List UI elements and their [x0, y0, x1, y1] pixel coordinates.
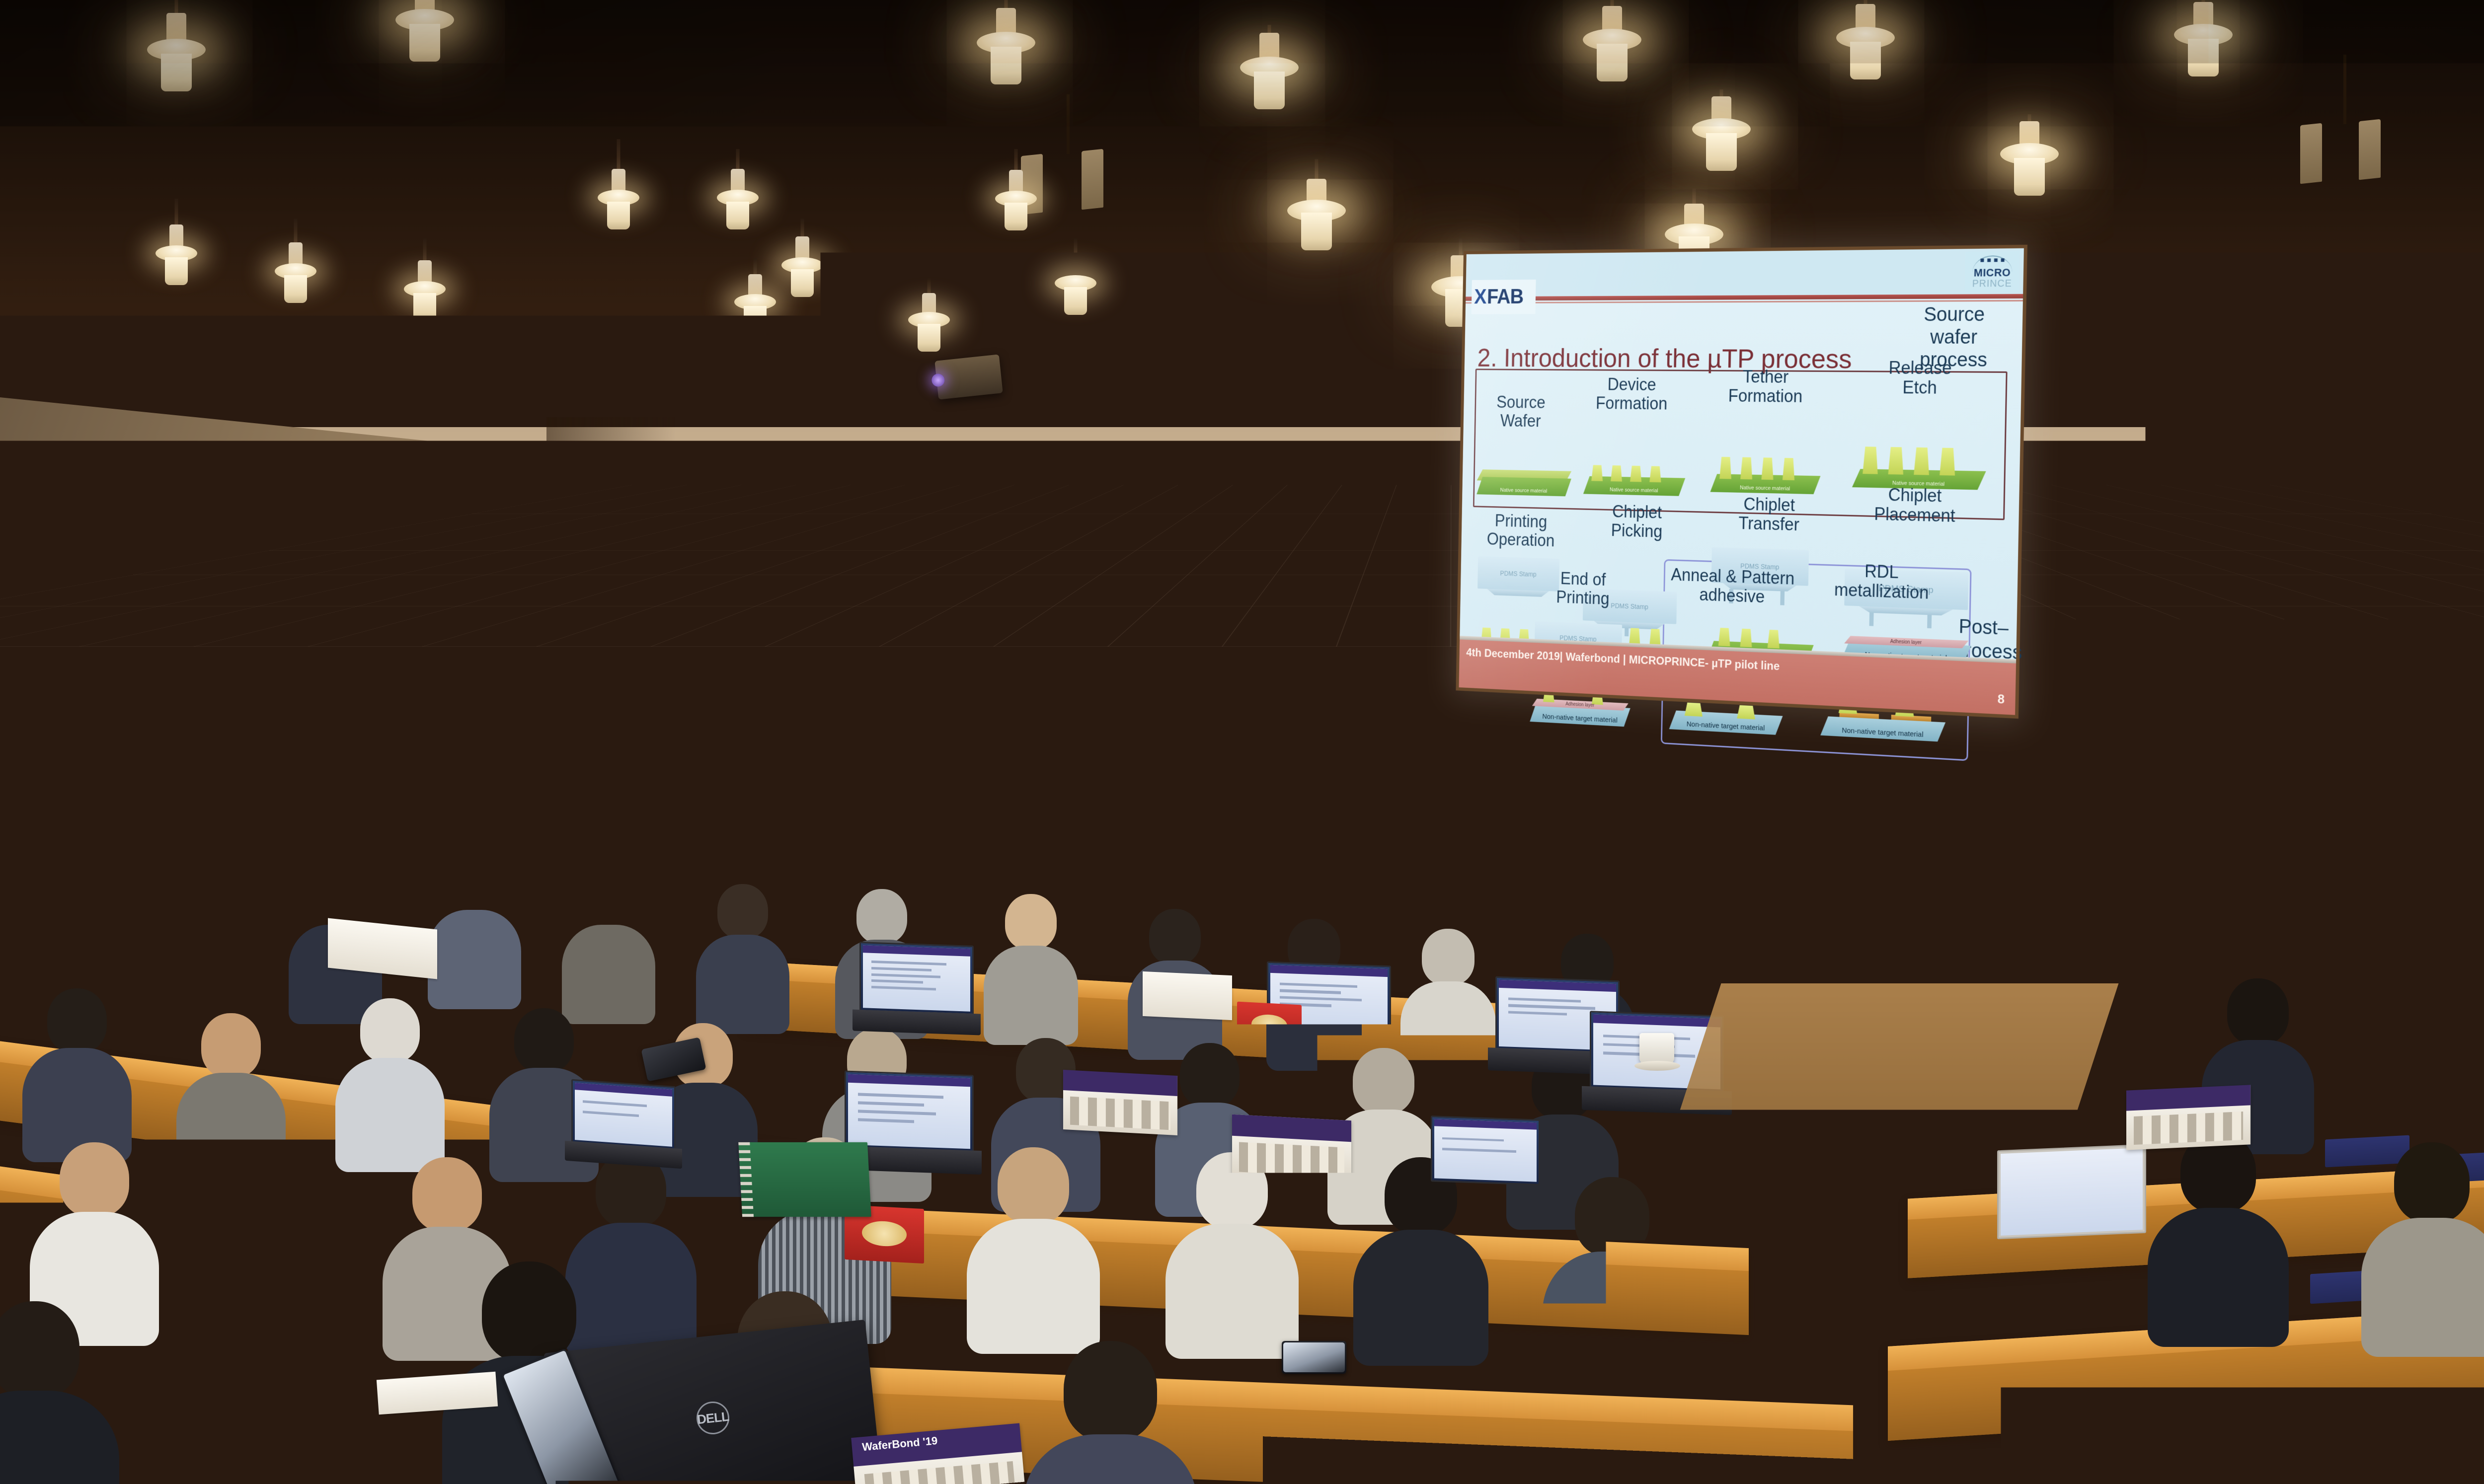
red-giveaway-box[interactable] — [1237, 1002, 1302, 1050]
pendant-lamp — [1833, 0, 1898, 114]
drinking-glass[interactable] — [1720, 897, 1730, 910]
audience-member-foreground — [189, 1336, 328, 1484]
microprince-logo: MICRO PRINCE — [1965, 251, 2020, 292]
dell-logo-icon: DELL — [695, 1400, 731, 1436]
step-label-source-wafer: Source Wafer — [1478, 393, 1564, 431]
audience-member — [437, 859, 512, 998]
xfab-x-mark: X — [1474, 287, 1485, 307]
pendant-lamp — [591, 139, 646, 238]
audience-member — [164, 864, 238, 1003]
presenter-shirt — [1061, 749, 1137, 853]
booth-speaker — [512, 650, 548, 678]
attendee-laptop[interactable] — [586, 801, 676, 878]
microprince-arc — [1972, 255, 2013, 273]
pendant-lamp — [904, 278, 954, 372]
projection-screen: X FAB MICRO PRINCE Source wafer process … — [1459, 248, 2024, 715]
xfab-logo: X FAB — [1472, 280, 1536, 314]
rack-led-red — [731, 781, 736, 784]
step-label-chiplet-picking: Chiplet Picking — [1590, 502, 1684, 542]
floor-aisle — [1637, 983, 2119, 1242]
slide-header-band — [1466, 248, 2024, 297]
drinking-glass[interactable] — [1337, 865, 1347, 878]
pendant-lamp — [397, 238, 452, 338]
ceiling-speakers-right — [2300, 55, 2390, 169]
banner-subtitle: CONFERENCE — [2437, 753, 2484, 769]
attendee-laptop[interactable] — [571, 1079, 676, 1169]
banner-title: WaferBond — [2437, 733, 2484, 755]
presenter-name-badge — [1096, 769, 1116, 779]
pendant-lamp — [1997, 114, 2062, 228]
pendant-lamp — [144, 0, 209, 124]
audience-member — [348, 998, 432, 1157]
box-seal-icon — [1251, 1014, 1288, 1036]
green-notebook[interactable] — [738, 1142, 871, 1217]
pendant-lamp — [1580, 0, 1644, 114]
coffee-cup[interactable] — [1639, 1033, 1674, 1065]
desk-papers[interactable] — [1143, 971, 1232, 1020]
front-chair[interactable] — [1734, 885, 1784, 924]
front-chair[interactable] — [1530, 860, 1580, 899]
step-label-chiplet-placement: Chiplet Placement — [1855, 484, 1975, 526]
water-bottle[interactable] — [1707, 889, 1716, 918]
conference-booklet[interactable] — [2126, 1085, 2251, 1150]
attendee-laptop[interactable] — [47, 843, 147, 920]
audience-member — [994, 894, 1068, 1033]
audience-member — [835, 775, 899, 894]
desk-papers[interactable] — [1202, 1228, 1336, 1295]
cup-saucer — [1634, 1061, 1680, 1071]
booth-speaker — [392, 657, 429, 685]
step-label-printing-operation: Printing Operation — [1475, 511, 1566, 551]
water-bottle[interactable] — [1695, 887, 1704, 916]
conference-booklet[interactable] — [1063, 1070, 1177, 1135]
step-label-tether-formation: Tether Formation — [1712, 367, 1819, 407]
desk-papers[interactable] — [1401, 879, 1446, 896]
audience-member — [705, 884, 780, 1023]
pendant-lamp — [2171, 0, 2236, 114]
desk-papers[interactable] — [1500, 892, 1570, 918]
slide-footer-text: 4th December 2019| Waferbond | MICROPRIN… — [1466, 647, 1780, 672]
step-label-rdl-metallization: RDL metallization — [1820, 560, 1944, 603]
audience-member — [571, 874, 646, 1013]
pendant-lamp — [1689, 89, 1754, 204]
microprince-dots — [1981, 258, 2005, 262]
stamp-label: PDMS Stamp — [1500, 570, 1536, 578]
desk-smartphone[interactable] — [1282, 1341, 1346, 1374]
booth-speaker — [343, 661, 380, 689]
water-bottle[interactable] — [1298, 854, 1307, 884]
phone-screen — [1283, 1342, 1345, 1372]
step-label-device-formation: Device Formation — [1583, 375, 1681, 414]
audience-member — [35, 988, 119, 1147]
conference-booklet[interactable] — [1232, 1114, 1351, 1183]
pendant-lamp — [775, 219, 830, 318]
lecture-hall-scene: X FAB MICRO PRINCE Source wafer process … — [0, 0, 2484, 1484]
xfab-wordmark: FAB — [1487, 287, 1524, 307]
diagram-device-formation: Native source material — [1583, 453, 1686, 496]
step-label-chiplet-transfer: Chiplet Transfer — [1718, 494, 1820, 535]
audience-member — [0, 705, 45, 834]
presentation-slide: X FAB MICRO PRINCE Source wafer process … — [1459, 248, 2024, 715]
step-label-end-of-printing: End of Printing — [1537, 568, 1630, 609]
diagram-release-etch: Native source material — [1852, 434, 1987, 490]
attendee-laptop[interactable] — [859, 942, 974, 1035]
step-label-anneal-pattern: Anneal & Pattern adhesive — [1664, 565, 1801, 608]
pendant-lamp — [989, 149, 1043, 248]
rack-display — [726, 691, 744, 722]
box-seal-icon — [862, 1220, 907, 1247]
pendant-lamp — [1048, 238, 1103, 338]
audience-member — [219, 1162, 318, 1351]
diagram-source-wafer: Native source material — [1476, 461, 1571, 496]
waferbond-emblem-icon — [2395, 738, 2432, 766]
presenter-hair — [1077, 708, 1118, 725]
auditorium-chair[interactable] — [2335, 1021, 2414, 1049]
pendant-lamp — [710, 149, 765, 248]
pendant-lamp — [730, 258, 780, 353]
front-chair[interactable] — [1371, 844, 1421, 883]
water-bottle[interactable] — [1683, 885, 1692, 914]
drinking-glass[interactable] — [1285, 864, 1295, 877]
audience-member — [984, 1147, 1083, 1336]
slide-page-number: 8 — [1998, 692, 2005, 706]
step-label-release-etch: Release Etch — [1865, 358, 1975, 398]
audience-member-foreground — [0, 1301, 99, 1484]
pendant-lamp — [392, 0, 457, 99]
water-bottle[interactable] — [1310, 855, 1319, 885]
microprince-line2: PRINCE — [1972, 278, 2012, 289]
front-chair[interactable] — [1451, 852, 1500, 891]
pendant-lamp — [149, 199, 204, 298]
booth-speaker — [559, 646, 596, 674]
pendant-lamp — [268, 219, 323, 318]
pendant-lamp — [974, 0, 1038, 119]
pendant-lamp — [1287, 159, 1346, 268]
diagram-tether-formation: Native source material — [1710, 446, 1821, 494]
pendant-lamp — [1237, 25, 1302, 144]
banner-header: WaferBond CONFERENCE — [2390, 721, 2484, 780]
auditorium-chair[interactable] — [2449, 1036, 2484, 1064]
audience-member — [740, 750, 805, 874]
water-bottle[interactable] — [1321, 857, 1330, 887]
presenter-glasses — [1078, 725, 1116, 731]
audience-member — [2166, 1132, 2270, 1331]
audience-member-foreground — [1043, 1341, 1177, 1484]
attendee-laptop[interactable] — [1431, 1115, 1540, 1204]
audience-member — [1411, 929, 1485, 1068]
audience-member — [581, 1152, 681, 1341]
audience-member — [2380, 1142, 2484, 1341]
audience-member — [189, 1013, 273, 1172]
